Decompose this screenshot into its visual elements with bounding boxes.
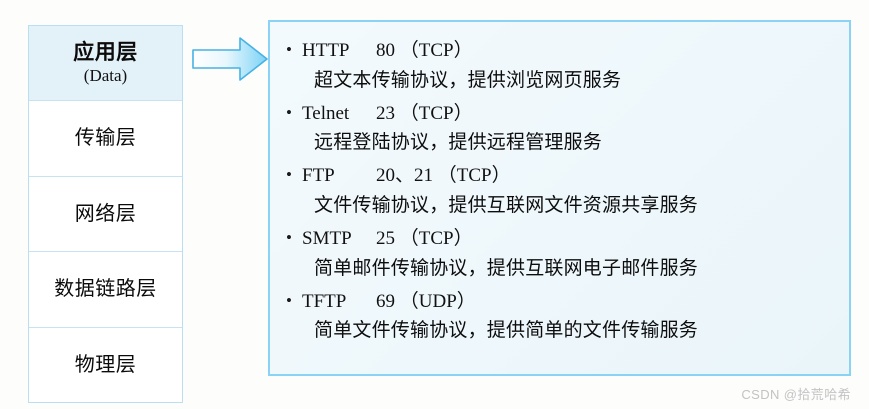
protocol-description: 简单文件传输协议，提供简单的文件传输服务: [314, 317, 839, 346]
osi-layer-table: 应用层 (Data) 传输层 网络层 数据链路层 物理层: [28, 25, 183, 403]
protocol-panel: • HTTP 80 （TCP） 超文本传输协议，提供浏览网页服务 • Telne…: [268, 20, 851, 376]
layer-row-transport[interactable]: 传输层: [29, 101, 182, 177]
protocol-ports: 20、21 （TCP）: [376, 161, 511, 192]
diagram-canvas: 应用层 (Data) 传输层 网络层 数据链路层 物理层: [0, 0, 869, 409]
protocol-header: • SMTP 25 （TCP）: [286, 224, 839, 255]
protocol-ports: 80 （TCP）: [376, 36, 473, 67]
protocol-header: • Telnet 23 （TCP）: [286, 99, 839, 130]
layer-row-application[interactable]: 应用层 (Data): [29, 26, 182, 101]
protocol-name: HTTP: [302, 36, 376, 67]
list-item: • TFTP 69 （UDP） 简单文件传输协议，提供简单的文件传输服务: [286, 287, 839, 347]
protocol-ports: 69 （UDP）: [376, 287, 476, 318]
protocol-description: 远程登陆协议，提供远程管理服务: [314, 129, 839, 158]
layer-label-stack: 物理层: [75, 354, 137, 376]
protocol-name: TFTP: [302, 287, 376, 318]
layer-row-data-link[interactable]: 数据链路层: [29, 252, 182, 328]
bullet-icon: •: [286, 287, 302, 315]
protocol-header: • TFTP 69 （UDP）: [286, 287, 839, 318]
layer-name: 应用层: [73, 41, 138, 65]
protocol-header: • FTP 20、21 （TCP）: [286, 161, 839, 192]
list-item: • Telnet 23 （TCP） 远程登陆协议，提供远程管理服务: [286, 99, 839, 159]
layer-name: 数据链路层: [54, 278, 157, 300]
list-item: • FTP 20、21 （TCP） 文件传输协议，提供互联网文件资源共享服务: [286, 161, 839, 221]
protocol-description: 简单邮件传输协议，提供互联网电子邮件服务: [314, 255, 839, 284]
protocol-header: • HTTP 80 （TCP）: [286, 36, 839, 67]
layer-label-stack: 网络层: [75, 203, 137, 225]
right-arrow-icon: [192, 36, 268, 82]
layer-label-stack: 应用层 (Data): [73, 41, 138, 85]
layer-label-stack: 传输层: [75, 127, 137, 149]
layer-name: 网络层: [75, 203, 137, 225]
layer-sublabel: (Data): [84, 66, 127, 85]
list-item: • HTTP 80 （TCP） 超文本传输协议，提供浏览网页服务: [286, 36, 839, 96]
watermark: CSDN @拾荒哈希: [741, 384, 851, 403]
protocol-name: SMTP: [302, 224, 376, 255]
list-item: • SMTP 25 （TCP） 简单邮件传输协议，提供互联网电子邮件服务: [286, 224, 839, 284]
protocol-ports: 25 （TCP）: [376, 224, 473, 255]
bullet-icon: •: [286, 224, 302, 252]
protocol-ports: 23 （TCP）: [376, 99, 473, 130]
protocol-name: FTP: [302, 161, 376, 192]
protocol-description: 超文本传输协议，提供浏览网页服务: [314, 67, 839, 96]
layer-name: 物理层: [75, 354, 137, 376]
layer-name: 传输层: [75, 127, 137, 149]
protocol-list: • HTTP 80 （TCP） 超文本传输协议，提供浏览网页服务 • Telne…: [270, 22, 849, 346]
bullet-icon: •: [286, 36, 302, 64]
layer-label-stack: 数据链路层: [54, 278, 157, 300]
layer-row-physical[interactable]: 物理层: [29, 328, 182, 403]
protocol-name: Telnet: [302, 99, 376, 130]
protocol-description: 文件传输协议，提供互联网文件资源共享服务: [314, 192, 839, 221]
layer-row-network[interactable]: 网络层: [29, 177, 182, 253]
bullet-icon: •: [286, 161, 302, 189]
bullet-icon: •: [286, 99, 302, 127]
